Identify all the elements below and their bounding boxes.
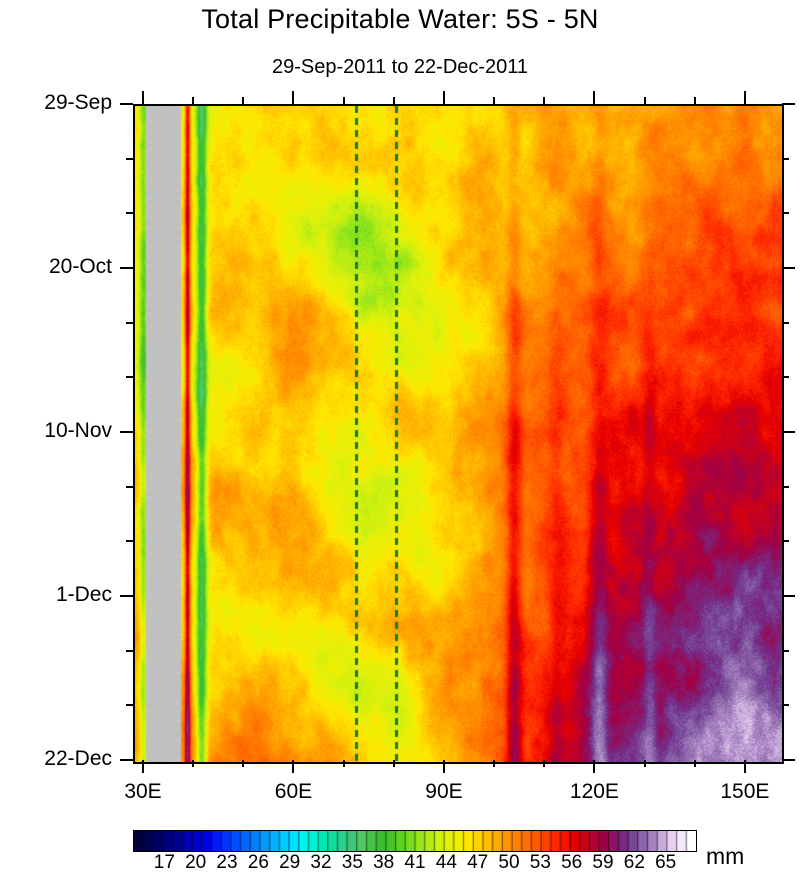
y-axis-tick-label: 29-Sep	[0, 91, 112, 115]
y-axis-minor-tick	[126, 212, 133, 214]
y-axis-minor-tick-right	[782, 212, 789, 214]
x-axis-tick-label: 90E	[384, 780, 504, 804]
x-axis-minor-tick	[644, 760, 646, 767]
x-axis-minor-tick-top	[192, 97, 194, 104]
x-axis-major-tick	[142, 760, 144, 773]
x-axis-minor-tick	[393, 760, 395, 767]
y-axis-tick-label: 20-Oct	[0, 255, 112, 279]
x-axis-minor-tick	[543, 760, 545, 767]
y-axis-minor-tick	[126, 704, 133, 706]
y-axis-major-tick-right	[782, 759, 795, 761]
x-axis-minor-tick	[343, 760, 345, 767]
x-axis-major-tick-top	[292, 91, 294, 104]
x-axis-minor-tick-top	[493, 97, 495, 104]
y-axis-minor-tick	[126, 540, 133, 542]
x-axis-tick-label: 60E	[233, 780, 353, 804]
y-axis-minor-tick-right	[782, 158, 789, 160]
colorbar[interactable]	[133, 830, 697, 852]
y-axis-major-tick	[120, 103, 133, 105]
x-axis-major-tick-top	[443, 91, 445, 104]
y-axis-minor-tick-right	[782, 704, 789, 706]
y-axis-major-tick	[120, 759, 133, 761]
x-axis-major-tick	[443, 760, 445, 773]
y-axis-tick-label: 22-Dec	[0, 747, 112, 771]
y-axis-tick-label: 10-Nov	[0, 419, 112, 443]
x-axis-minor-tick-top	[543, 97, 545, 104]
x-axis-minor-tick-top	[393, 97, 395, 104]
y-axis-minor-tick	[126, 158, 133, 160]
y-axis-major-tick-right	[782, 267, 795, 269]
y-axis-minor-tick	[126, 376, 133, 378]
y-axis-minor-tick-right	[782, 540, 789, 542]
x-axis-minor-tick-top	[343, 97, 345, 104]
colorbar-unit-label: mm	[706, 843, 744, 870]
colorbar-tick-label: 65	[646, 852, 686, 874]
y-axis-minor-tick-right	[782, 650, 789, 652]
x-axis-major-tick	[292, 760, 294, 773]
x-axis-minor-tick-top	[242, 97, 244, 104]
colorbar-gradient	[133, 830, 697, 852]
x-axis-tick-label: 120E	[534, 780, 654, 804]
y-axis-minor-tick	[126, 322, 133, 324]
y-axis-major-tick-right	[782, 431, 795, 433]
x-axis-major-tick-top	[593, 91, 595, 104]
x-axis-minor-tick	[694, 760, 696, 767]
x-axis-tick-label: 30E	[83, 780, 203, 804]
x-axis-minor-tick-top	[644, 97, 646, 104]
y-axis-minor-tick-right	[782, 322, 789, 324]
x-axis-tick-label: 150E	[685, 780, 800, 804]
y-axis-tick-label: 1-Dec	[0, 583, 112, 607]
x-axis-minor-tick-top	[694, 97, 696, 104]
y-axis-major-tick	[120, 267, 133, 269]
y-axis-minor-tick-right	[782, 376, 789, 378]
x-axis-major-tick	[593, 760, 595, 773]
x-axis-minor-tick-top	[744, 97, 746, 104]
y-axis-minor-tick	[126, 650, 133, 652]
x-axis-minor-tick	[744, 760, 746, 767]
y-axis-minor-tick-right	[782, 486, 789, 488]
hovmoller-plot-area[interactable]	[133, 104, 784, 764]
y-axis-major-tick-right	[782, 103, 795, 105]
page-title: Total Precipitable Water: 5S - 5N	[0, 4, 800, 35]
y-axis-major-tick	[120, 431, 133, 433]
x-axis-major-tick-top	[142, 91, 144, 104]
x-axis-minor-tick	[192, 760, 194, 767]
y-axis-major-tick-right	[782, 595, 795, 597]
date-range-subtitle: 29-Sep-2011 to 22-Dec-2011	[0, 56, 800, 79]
y-axis-major-tick	[120, 595, 133, 597]
x-axis-minor-tick	[493, 760, 495, 767]
precipitable-water-heatmap	[135, 106, 782, 762]
y-axis-minor-tick	[126, 486, 133, 488]
x-axis-minor-tick	[242, 760, 244, 767]
